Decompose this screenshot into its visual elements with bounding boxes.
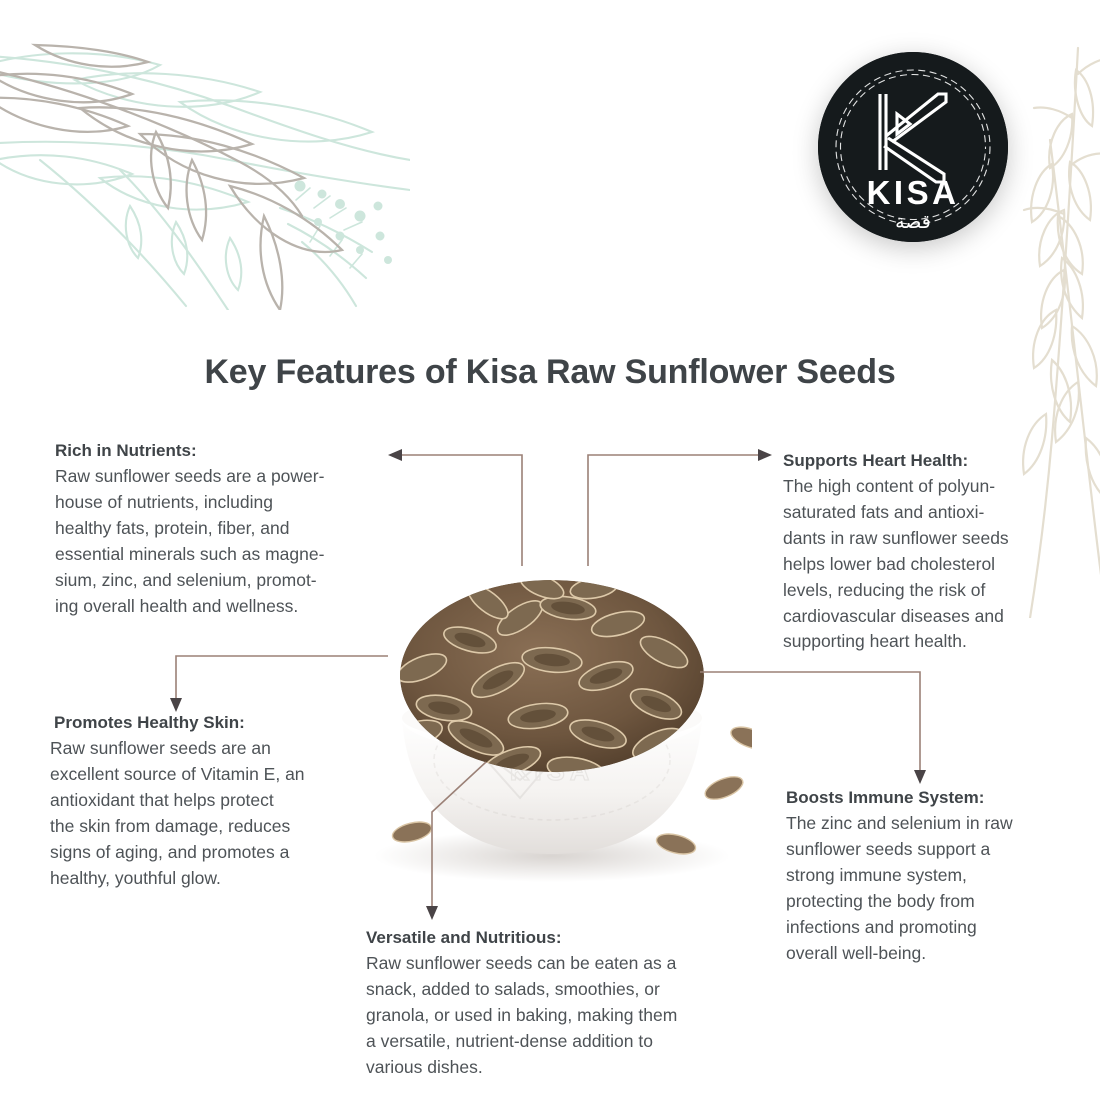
feature-body: The zinc and selenium in raw sunflower s… bbox=[786, 811, 1061, 966]
feature-body: The high content of polyun- saturated fa… bbox=[783, 474, 1058, 655]
feature-body: Raw sunflower seeds can be eaten as a sn… bbox=[366, 951, 751, 1080]
feature-promotes-healthy-skin: Promotes Healthy Skin: Raw sunflower see… bbox=[50, 712, 350, 891]
feature-title: Versatile and Nutritious: bbox=[366, 927, 751, 949]
feature-title: Promotes Healthy Skin: bbox=[50, 712, 350, 734]
feature-title: Rich in Nutrients: bbox=[55, 440, 385, 462]
feature-title: Supports Heart Health: bbox=[783, 450, 1058, 472]
feature-versatile-and-nutritious: Versatile and Nutritious: Raw sunflower … bbox=[366, 927, 751, 1081]
feature-boosts-immune-system: Boosts Immune System: The zinc and selen… bbox=[786, 787, 1061, 966]
connector-nutrients bbox=[400, 455, 522, 566]
feature-body: Raw sunflower seeds are an excellent sou… bbox=[50, 736, 350, 891]
connector-versatile bbox=[432, 762, 486, 908]
connector-heart bbox=[588, 455, 762, 566]
infographic-page: KISA قصة Key Features of Kisa Raw Sunflo… bbox=[0, 0, 1100, 1100]
connector-immune bbox=[700, 672, 920, 772]
feature-body: Raw sunflower seeds are a power- house o… bbox=[55, 464, 385, 619]
connector-skin bbox=[176, 656, 388, 700]
feature-supports-heart-health: Supports Heart Health: The high content … bbox=[783, 450, 1058, 655]
feature-rich-in-nutrients: Rich in Nutrients: Raw sunflower seeds a… bbox=[55, 440, 385, 619]
feature-title: Boosts Immune System: bbox=[786, 787, 1061, 809]
